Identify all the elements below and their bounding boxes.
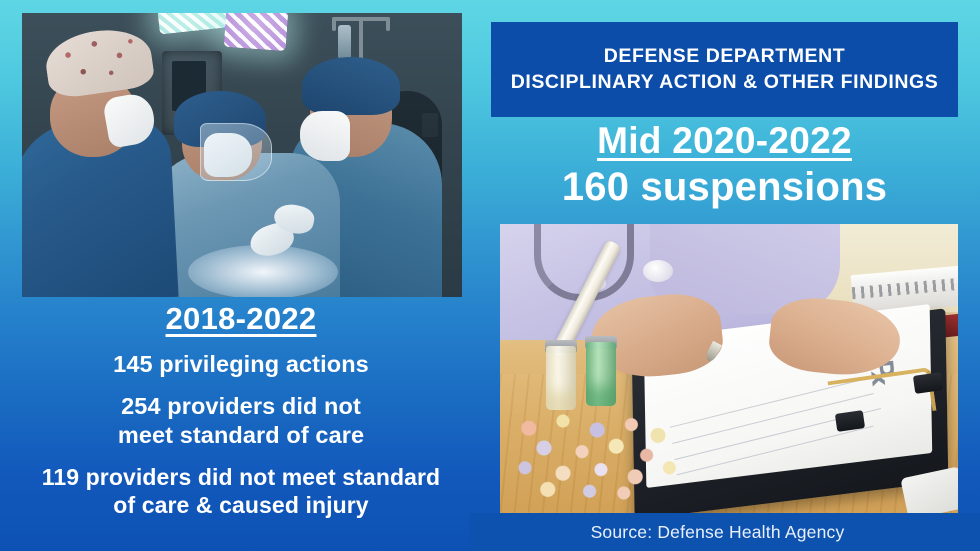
- header-banner: DEFENSE DEPARTMENT DISCIPLINARY ACTION &…: [491, 22, 958, 117]
- left-stat-below-standard-line-2: meet standard of care: [8, 421, 474, 450]
- pills-pile: [506, 412, 696, 502]
- surgical-light-icon: [156, 13, 227, 34]
- left-period-heading: 2018-2022: [8, 300, 474, 337]
- left-stat-injury-line-2: of care & caused injury: [8, 491, 474, 519]
- medicine-vial-green: [586, 342, 616, 406]
- iv-bag: [338, 25, 351, 59]
- left-stat-injury-line-1: 119 providers did not meet standard: [8, 463, 474, 491]
- stethoscope-chestpiece: [643, 260, 673, 282]
- surgeon-right-surgical-cap: [302, 57, 400, 115]
- medicine-vial-clear: [546, 346, 576, 410]
- right-stats-block: Mid 2020-2022 160 suspensions: [491, 120, 958, 211]
- clipboard-clip-jaw: [835, 410, 865, 432]
- surgeon-middle-face-shield: [200, 123, 272, 181]
- left-stats-block: 2018-2022 145 privileging actions 254 pr…: [8, 300, 474, 519]
- left-stat-privileging-actions: 145 privileging actions: [8, 350, 474, 379]
- source-attribution: Source: Defense Health Agency: [470, 513, 965, 551]
- clipboard-clip-jaw: [913, 372, 943, 394]
- iv-pole-hook: [332, 17, 336, 31]
- left-stat-below-standard-line-1: 254 providers did not: [8, 392, 474, 421]
- clipboard-photo: ℞: [500, 224, 958, 513]
- surgeon-left-patterned-cap: [42, 24, 156, 100]
- surgery-photo: [22, 13, 462, 297]
- right-period-heading: Mid 2020-2022: [491, 120, 958, 161]
- banner-title-line-1: DEFENSE DEPARTMENT: [604, 46, 845, 67]
- left-stat-below-standard-injury: 119 providers did not meet standard of c…: [8, 463, 474, 519]
- banner-title-line-2: DISCIPLINARY ACTION & OTHER FINDINGS: [511, 72, 939, 93]
- left-stat-below-standard: 254 providers did not meet standard of c…: [8, 392, 474, 449]
- surgical-light-icon: [224, 13, 289, 51]
- right-suspensions-stat: 160 suspensions: [491, 163, 958, 211]
- iv-pole-hook: [386, 17, 390, 31]
- surgeon-right-face-mask: [300, 111, 350, 161]
- infographic-canvas: DEFENSE DEPARTMENT DISCIPLINARY ACTION &…: [0, 0, 980, 551]
